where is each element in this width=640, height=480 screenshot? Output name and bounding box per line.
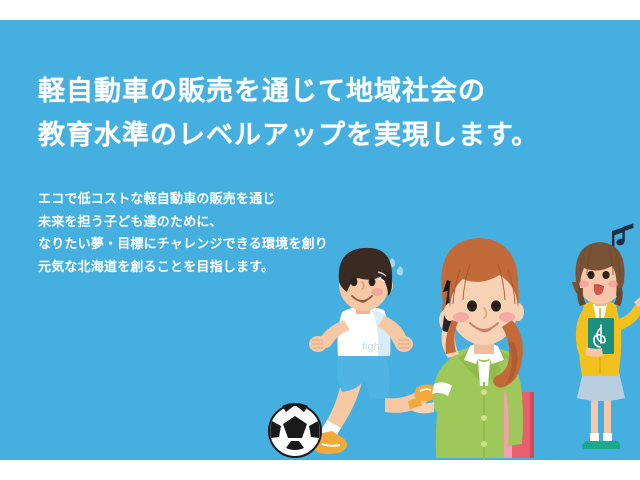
headline-line-2: 教育水準のレベルアップを実現します。 — [38, 114, 558, 158]
body-line-3: なりたい夢・目標にチャレンジできる環境を創り — [38, 233, 368, 256]
shirt-text: fight — [362, 341, 383, 353]
headline-line-1: 軽自動車の販売を通じて地域社会の — [38, 70, 558, 114]
woman-teacher-character — [408, 238, 534, 460]
soccer-ball — [269, 403, 321, 457]
blue-banner: fight — [0, 20, 640, 460]
body-line-1: エコで低コストな軽自動車の販売を通じ — [38, 188, 368, 211]
body-line-4: 元気な北海道を創ることを目指します。 — [38, 256, 368, 279]
body-line-2: 未来を担う子ども達のために、 — [38, 211, 368, 234]
banner-image: fight — [0, 0, 640, 480]
headline: 軽自動車の販売を通じて地域社会の 教育水準のレベルアップを実現します。 — [38, 70, 558, 158]
body-copy: エコで低コストな軽自動車の販売を通じ 未来を担う子ども達のために、 なりたい夢・… — [38, 188, 368, 278]
girl-music-character — [572, 223, 640, 449]
boy-soccer-character: fight — [309, 248, 439, 454]
